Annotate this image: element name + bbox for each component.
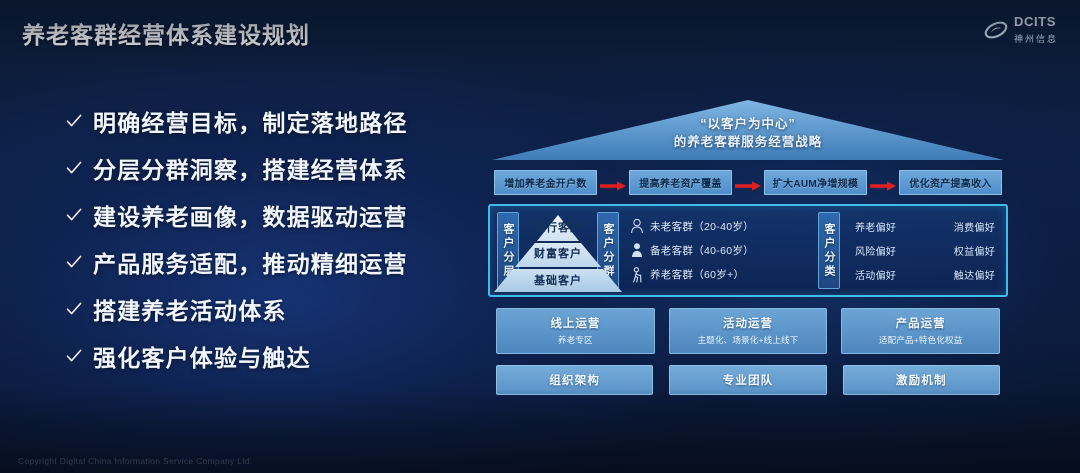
operation-card-2[interactable]: 活动运营 主题化、场景化+线上线下: [669, 308, 828, 354]
segment-label-1: 未老客群（20-40岁）: [650, 219, 754, 234]
preference-cell: 消费偏好: [954, 219, 995, 234]
goal-box-2[interactable]: 提高养老资产覆盖: [629, 170, 732, 195]
operation-title: 产品运营: [844, 315, 997, 331]
preference-cell: 风险偏好: [855, 243, 896, 258]
goal-box-3[interactable]: 扩大AUM净增规模: [764, 170, 867, 195]
goal-flow-row: 增加养老金开户数 提高养老资产覆盖 扩大AUM净增规模 优化资产提高收入: [488, 170, 1008, 195]
pyramid-tier-label-1: 私行客户: [526, 219, 590, 235]
operation-subtitle: 适配产品+特色化权益: [844, 334, 997, 346]
strategy-diagram: “以客户为中心” 的养老客群服务经营战略 增加养老金开户数 提高养老资产覆盖 扩…: [488, 96, 1008, 426]
list-item-label: 分层分群洞察，搭建经营体系: [93, 151, 408, 185]
foundation-box-1[interactable]: 组织架构: [496, 365, 653, 395]
list-item: 明确经营目标，制定落地路径: [66, 104, 466, 138]
check-icon: [66, 301, 82, 317]
preference-cell: 触达偏好: [954, 267, 995, 282]
pyramid-tier-label-3: 基础客户: [526, 272, 590, 288]
check-icon: [66, 207, 82, 223]
customer-pyramid: 私行客户 财富客户 基础客户: [526, 212, 590, 289]
foundation-box-2[interactable]: 专业团队: [669, 365, 826, 395]
foundation-row: 组织架构 专业团队 激励机制: [488, 365, 1008, 395]
brand-logo: DCITS 神州信息: [984, 14, 1058, 46]
check-icon: [66, 113, 82, 129]
preference-cell: 活动偏好: [855, 267, 896, 282]
list-item: 养老客群（60岁+）: [630, 267, 811, 283]
logo-text-en: DCITS: [1014, 14, 1056, 29]
category-vertical-label: 客户分类: [818, 212, 840, 289]
list-item: 分层分群洞察，搭建经营体系: [66, 151, 466, 185]
red-arrow-icon: [735, 178, 761, 188]
operation-title: 活动运营: [672, 315, 825, 331]
preference-cell: 权益偏好: [954, 243, 995, 258]
customer-preferences: 养老偏好 消费偏好 风险偏好 权益偏好 活动偏好 触达偏好: [847, 212, 999, 289]
operation-title: 线上运营: [499, 315, 652, 331]
elderly-person-icon: [630, 267, 644, 283]
key-points-list: 明确经营目标，制定落地路径 分层分群洞察，搭建经营体系 建设养老画像，数据驱动运…: [66, 104, 466, 373]
check-icon: [66, 348, 82, 364]
segment-label-2: 备老客群（40-60岁）: [650, 243, 754, 258]
table-row: 养老偏好 消费偏好: [847, 219, 999, 234]
segment-label-3: 养老客群（60岁+）: [650, 267, 744, 282]
preference-cell: 养老偏好: [855, 219, 896, 234]
list-item-label: 搭建养老活动体系: [93, 292, 287, 326]
operation-subtitle: 主题化、场景化+线上线下: [672, 334, 825, 346]
list-item-label: 明确经营目标，制定落地路径: [93, 104, 408, 138]
middle-aged-person-icon: [630, 242, 644, 258]
customer-segments: 未老客群（20-40岁） 备老客群（40-60岁）: [626, 212, 811, 289]
table-row: 活动偏好 触达偏好: [847, 267, 999, 282]
foundation-box-3[interactable]: 激励机制: [843, 365, 1000, 395]
list-item-label: 建设养老画像，数据驱动运营: [93, 198, 408, 232]
young-person-icon: [630, 218, 644, 234]
copyright-footer: Copyright Digital China Information Serv…: [18, 456, 253, 466]
roof-title-line2: 的养老客群服务经营战略: [488, 134, 1008, 152]
swirl-logo-icon: [984, 18, 1008, 42]
list-item: 备老客群（40-60岁）: [630, 242, 811, 258]
pyramid-tier-label-2: 财富客户: [526, 245, 590, 261]
slide-canvas: 养老客群经营体系建设规划 DCITS 神州信息 明确经营目标，制定落地路径 分层…: [0, 0, 1080, 473]
red-arrow-icon: [870, 178, 896, 188]
check-icon: [66, 160, 82, 176]
strategy-roof: “以客户为中心” 的养老客群服务经营战略: [488, 96, 1008, 168]
goal-box-1[interactable]: 增加养老金开户数: [494, 170, 597, 195]
goal-box-4[interactable]: 优化资产提高收入: [899, 170, 1002, 195]
list-item: 强化客户体验与触达: [66, 339, 466, 373]
table-row: 风险偏好 权益偏好: [847, 243, 999, 258]
list-item: 未老客群（20-40岁）: [630, 218, 811, 234]
operations-row: 线上运营 养老专区 活动运营 主题化、场景化+线上线下 产品运营 适配产品+特色…: [488, 308, 1008, 354]
operation-subtitle: 养老专区: [499, 334, 652, 346]
check-icon: [66, 254, 82, 270]
operation-card-3[interactable]: 产品运营 适配产品+特色化权益: [841, 308, 1000, 354]
list-item: 产品服务适配，推动精细运营: [66, 245, 466, 279]
operation-card-1[interactable]: 线上运营 养老专区: [496, 308, 655, 354]
list-item-label: 产品服务适配，推动精细运营: [93, 245, 408, 279]
list-item: 建设养老画像，数据驱动运营: [66, 198, 466, 232]
customer-core-panel: 客户分层: [488, 204, 1008, 297]
page-title: 养老客群经营体系建设规划: [22, 16, 310, 50]
list-item-label: 强化客户体验与触达: [93, 339, 311, 373]
logo-text-cn: 神州信息: [1014, 34, 1058, 44]
red-arrow-icon: [600, 178, 626, 188]
list-item: 搭建养老活动体系: [66, 292, 466, 326]
roof-title-line1: “以客户为中心”: [488, 116, 1008, 134]
